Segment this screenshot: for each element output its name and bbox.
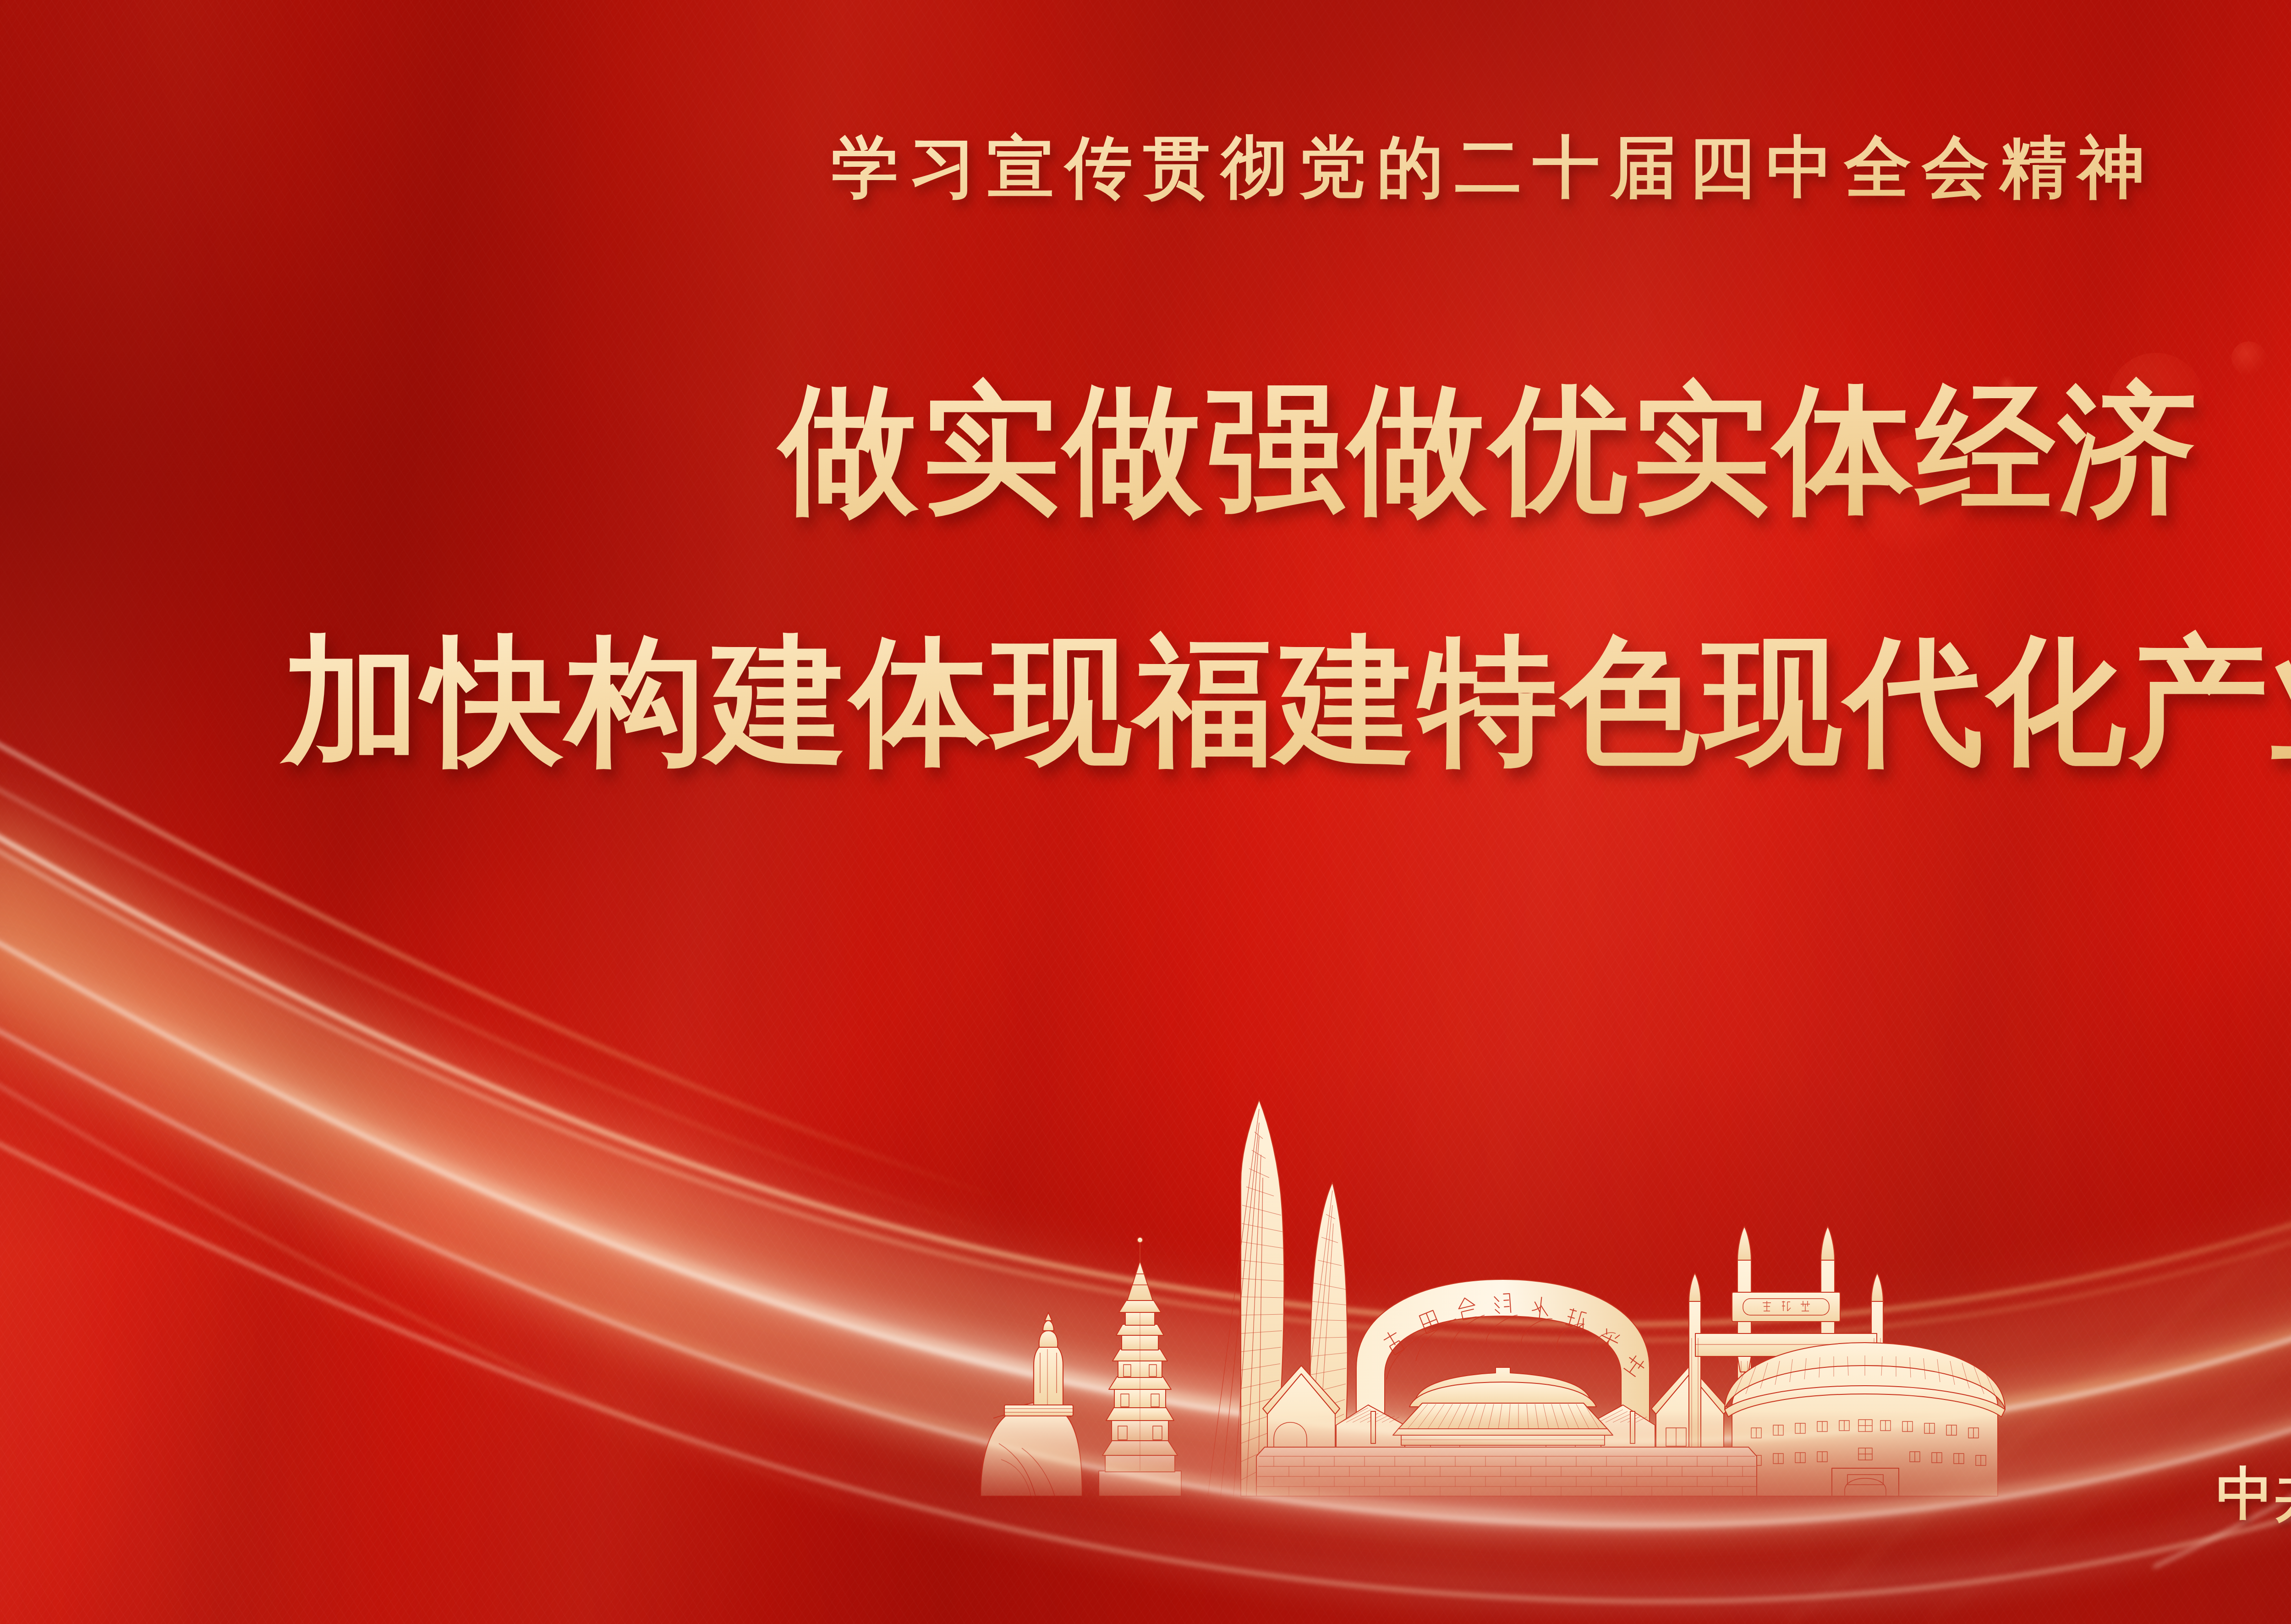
stone-base-platform — [1256, 1447, 1757, 1496]
pagoda-landmark — [1099, 1237, 1181, 1496]
headline-line-2: 加快构建体现福建特色现代化产业体系 — [0, 609, 2291, 796]
mazu-statue-landmark — [981, 1312, 1082, 1496]
headline-line-1: 做实做强做优实体经济 — [0, 357, 2291, 544]
poster-canvas: 学习宣传贯彻党的二十届四中全会精神 做实做强做优实体经济 加快构建体现福建特色现… — [0, 0, 2291, 1624]
fujian-landmarks-illustration — [953, 1045, 2034, 1503]
tulou-round-house-landmark — [1725, 1343, 2005, 1496]
subtitle-text: 学习宣传贯彻党的二十届四中全会精神 — [0, 123, 2291, 213]
attribution-text: 中共福建省委宣传部(宣) — [2216, 1456, 2291, 1533]
